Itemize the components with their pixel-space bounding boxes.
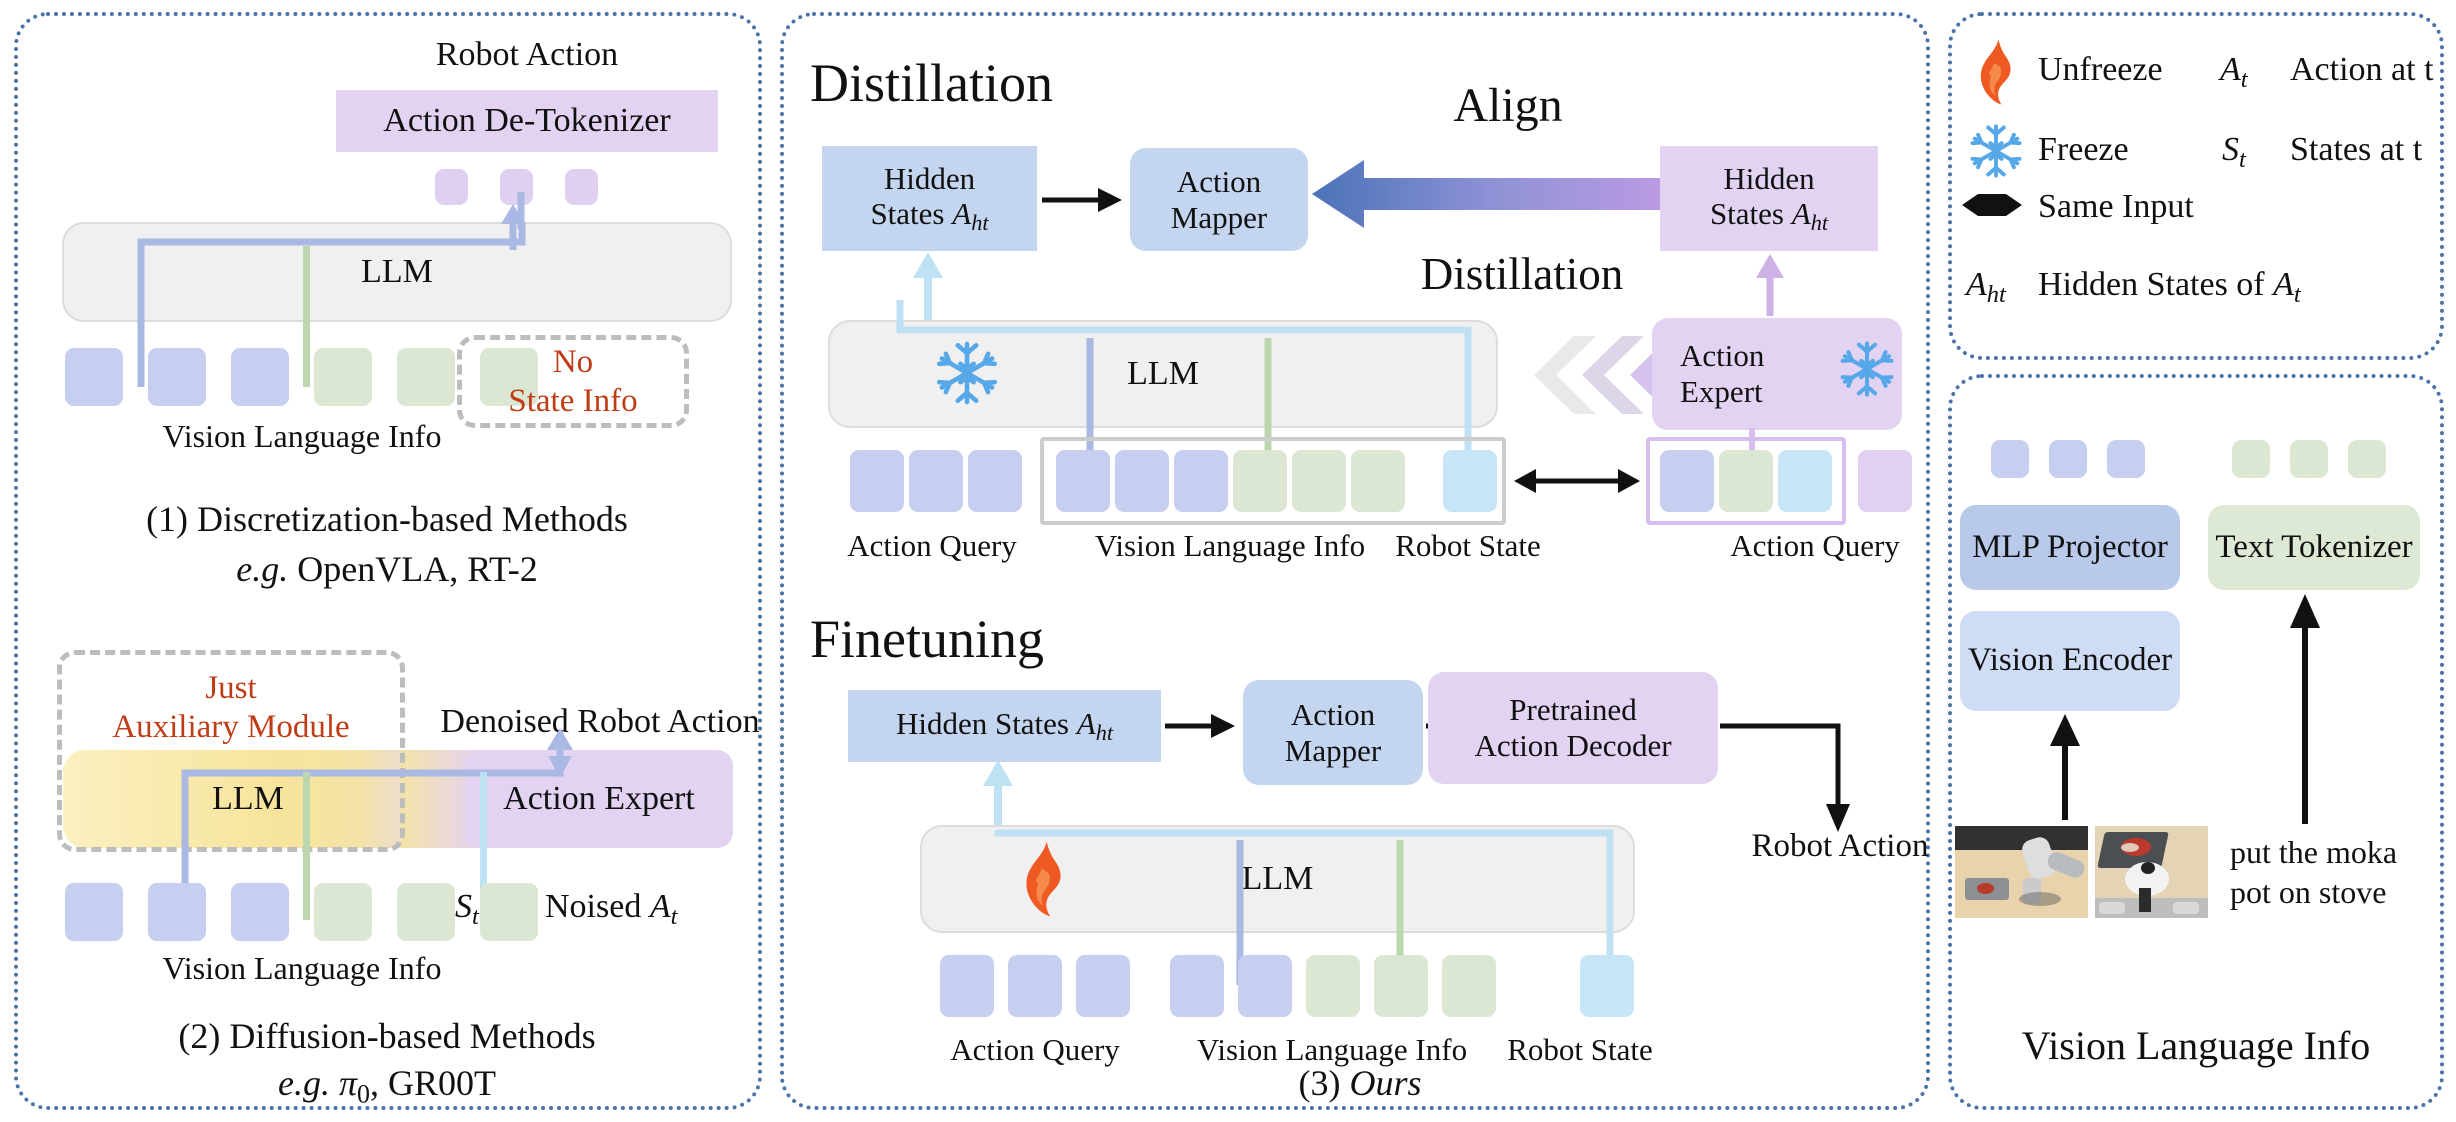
green-line-m2 (303, 772, 310, 920)
hidden-states-box-right: Hidden States Aht (1660, 146, 1878, 251)
eg-rest-m2: , GR00T (370, 1063, 496, 1103)
token-chip (1292, 450, 1346, 512)
action-query-label-right: Action Query (1730, 528, 1900, 564)
token-chip-action-query (1008, 955, 1062, 1017)
state-sub: t (472, 903, 479, 930)
detokenizer-arrow-m1 (480, 200, 540, 250)
robot-scene-thumbnail-1 (1955, 826, 2088, 918)
token-chip (1306, 955, 1360, 1017)
eg-rest: OpenVLA, RT-2 (288, 549, 538, 589)
method2-caption-line2: e.g. π0, GR00T (278, 1062, 496, 1109)
method1-caption-line1: (1) Discretization-based Methods (146, 498, 628, 540)
action-mapper-box-distill: Action Mapper (1130, 148, 1308, 251)
robot-scene-thumbnail-2 (2095, 826, 2208, 918)
action-detokenizer-box: Action De-Tokenizer (336, 90, 718, 152)
token-chip (1442, 955, 1496, 1017)
noised-sub: t (671, 903, 678, 930)
token-chip (65, 348, 123, 406)
token-chip-text (2348, 440, 2386, 478)
no-state-info-callout: No State Info (457, 335, 689, 428)
panel-vision-language-info (1948, 374, 2444, 1110)
robot-action-label-m1: Robot Action (436, 36, 618, 74)
legend-symbol-aht: Aht (1966, 266, 2006, 309)
figure-root: Robot Action Action De-Tokenizer LLM Vis… (0, 0, 2456, 1122)
vision-encoder-box: Vision Encoder (1960, 611, 2180, 711)
token-chip (1170, 955, 1224, 1017)
hidden-to-mapper-arrow-finetune (1163, 708, 1243, 748)
ours-caption-label: Ours (1349, 1063, 1421, 1103)
token-chip-action-query-right (1858, 450, 1912, 512)
token-chip-text (2290, 440, 2328, 478)
hidden-states-box-finetune: Hidden States Aht (848, 690, 1161, 762)
method1-caption-line2: e.g. OpenVLA, RT-2 (236, 548, 537, 590)
vision-language-info-label-distill: Vision Language Info (1095, 528, 1365, 564)
action-query-label-finetune: Action Query (950, 1032, 1120, 1068)
legend-at-sub: t (2241, 66, 2248, 93)
robot-state-label-distill: Robot State (1395, 528, 1541, 564)
token-chip (435, 169, 468, 205)
vision-language-info-label-m2: Vision Language Info (163, 950, 442, 987)
hidden-states-finetune-label: Hidden States Aht (896, 706, 1113, 746)
token-chip (231, 883, 289, 941)
token-chip-action-query (1076, 955, 1130, 1017)
token-chip (148, 348, 206, 406)
pi-sub: 0 (357, 1079, 370, 1108)
token-chip (1374, 955, 1428, 1017)
noised-text: Noised (545, 888, 641, 925)
action-query-label-distill: Action Query (847, 528, 1017, 564)
hidden-states-right-line2: States Aht (1710, 196, 1828, 236)
legend-label-at: Action at t (2290, 51, 2434, 89)
no-state-line1: No (553, 343, 593, 382)
token-chip (231, 348, 289, 406)
action-mapper-line1: Action (1177, 164, 1261, 200)
token-chip-text (2232, 440, 2270, 478)
mlp-projector-box: MLP Projector (1960, 505, 2180, 590)
action-mapper-finetune-line1: Action (1291, 697, 1375, 733)
token-chip-action-query (909, 450, 963, 512)
token-chip (480, 883, 538, 941)
legend-label-same-input: Same Input (2038, 188, 2194, 226)
decoder-to-robot-action-arrow (1716, 700, 1876, 840)
hidden-states-line1: Hidden (884, 161, 975, 197)
token-chip (1233, 450, 1287, 512)
aht-sub: ht (971, 211, 988, 236)
action-mapper-box-finetune: Action Mapper (1243, 680, 1423, 785)
mlp-projector-label: MLP Projector (1972, 529, 2168, 567)
legend-label-unfreeze: Unfreeze (2038, 51, 2163, 89)
legend-label-aht: Hidden States of At (2038, 266, 2301, 309)
robot-action-label-finetune: Robot Action (1752, 828, 1929, 865)
action-detokenizer-label: Action De-Tokenizer (383, 101, 670, 140)
token-chip-vision (2107, 440, 2145, 478)
fire-icon (1973, 38, 2021, 106)
vision-language-info-caption: Vision Language Info (2022, 1022, 2371, 1069)
legend-label-freeze: Freeze (2038, 131, 2129, 169)
legend-aht-sub: ht (1987, 281, 2006, 308)
token-chip (1351, 450, 1405, 512)
hidden-states-right-line1: Hidden (1723, 161, 1814, 197)
action-mapper-finetune-line2: Mapper (1285, 733, 1381, 769)
token-chip-action-query (940, 955, 994, 1017)
just-line2: Auxiliary Module (112, 708, 349, 747)
snowflake-icon (1968, 122, 2024, 180)
token-chip-vision (2049, 440, 2087, 478)
token-chip (1778, 450, 1832, 512)
pi-symbol: π (339, 1063, 357, 1103)
token-chip (148, 883, 206, 941)
text-tokenizer-label: Text Tokenizer (2215, 529, 2412, 567)
action-expert-line2: Expert (1680, 374, 1763, 410)
token-chip-robot-state (1580, 955, 1634, 1017)
legend-symbol-st: St (2222, 131, 2246, 174)
noised-symbol: A (650, 888, 671, 925)
same-input-double-arrow-icon (1512, 458, 1642, 504)
legend-at-sym: A (2220, 51, 2241, 88)
token-chip (397, 348, 455, 406)
green-line-m1 (303, 246, 310, 387)
state-symbol: S (455, 888, 472, 925)
legend-aht-label-sub: t (2294, 281, 2301, 308)
legend-aht-prefix: Hidden States of (2038, 266, 2273, 303)
legend-st-sub: t (2239, 146, 2246, 173)
denoised-robot-action-label: Denoised Robot Action (440, 703, 759, 741)
text-tokenizer-box: Text Tokenizer (2208, 505, 2420, 590)
pretrained-decoder-line2: Action Decoder (1474, 728, 1671, 764)
method2-caption-line1: (2) Diffusion-based Methods (178, 1015, 595, 1057)
token-chip (1719, 450, 1773, 512)
no-state-line2: State Info (508, 382, 637, 421)
noised-action-label: Noised At (545, 888, 677, 931)
token-chip (1660, 450, 1714, 512)
token-chip (1174, 450, 1228, 512)
image-to-encoder-arrow (2040, 712, 2090, 822)
token-chip (314, 883, 372, 941)
hidden-states-box-left: Hidden States Aht (822, 146, 1037, 251)
legend-symbol-at: At (2220, 51, 2248, 94)
token-chip (1115, 450, 1169, 512)
token-chip (314, 348, 372, 406)
legend-aht-label-sym: A (2273, 266, 2294, 303)
vision-language-info-label-m1: Vision Language Info (163, 418, 442, 455)
eg-prefix: e.g. (236, 549, 288, 589)
double-arrow-icon (1960, 188, 2024, 222)
action-expert-to-hidden-arrow (1740, 248, 1800, 318)
ours-caption-prefix: (3) (1298, 1063, 1349, 1103)
ours-caption: (3) Ours (1298, 1062, 1421, 1104)
token-chip-robot-state (1443, 450, 1497, 512)
action-mapper-line2: Mapper (1171, 200, 1267, 236)
aht-symbol: A (952, 196, 971, 231)
hidden-to-mapper-arrow (1040, 182, 1130, 218)
legend-aht-sym: A (1966, 266, 1987, 303)
align-label: Align (1453, 78, 1562, 133)
just-line1: Just (205, 669, 256, 708)
finetuning-title: Finetuning (810, 608, 1044, 670)
token-chip (65, 883, 123, 941)
legend-label-st: States at t (2290, 131, 2422, 169)
token-chip-action-query (850, 450, 904, 512)
token-chip (397, 883, 455, 941)
text-to-tokenizer-arrow (2280, 592, 2330, 827)
hidden-states-line2: States Aht (870, 196, 988, 236)
align-gradient-arrow (1312, 152, 1712, 236)
pretrained-action-decoder-box: Pretrained Action Decoder (1428, 672, 1718, 784)
denoised-arrow (530, 718, 590, 778)
eg-prefix-m2: e.g. (278, 1063, 330, 1103)
instruction-text-line1: put the moka (2230, 834, 2397, 871)
distillation-title: Distillation (810, 52, 1053, 114)
token-chip (1056, 450, 1110, 512)
token-chip (1238, 955, 1292, 1017)
vision-encoder-label: Vision Encoder (1968, 642, 2172, 680)
robot-state-label-finetune: Robot State (1507, 1032, 1653, 1068)
pretrained-decoder-line1: Pretrained (1509, 692, 1636, 728)
instruction-text-line2: pot on stove (2230, 874, 2386, 911)
snowflake-icon (1838, 338, 1896, 400)
legend-st-sym: S (2222, 131, 2239, 168)
token-chip-vision (1991, 440, 2029, 478)
state-symbol-label: St (455, 888, 479, 931)
distillation-arrow-label: Distillation (1421, 248, 1624, 300)
token-chip (565, 169, 598, 205)
token-chip-action-query (968, 450, 1022, 512)
action-expert-line1: Action (1680, 338, 1764, 374)
